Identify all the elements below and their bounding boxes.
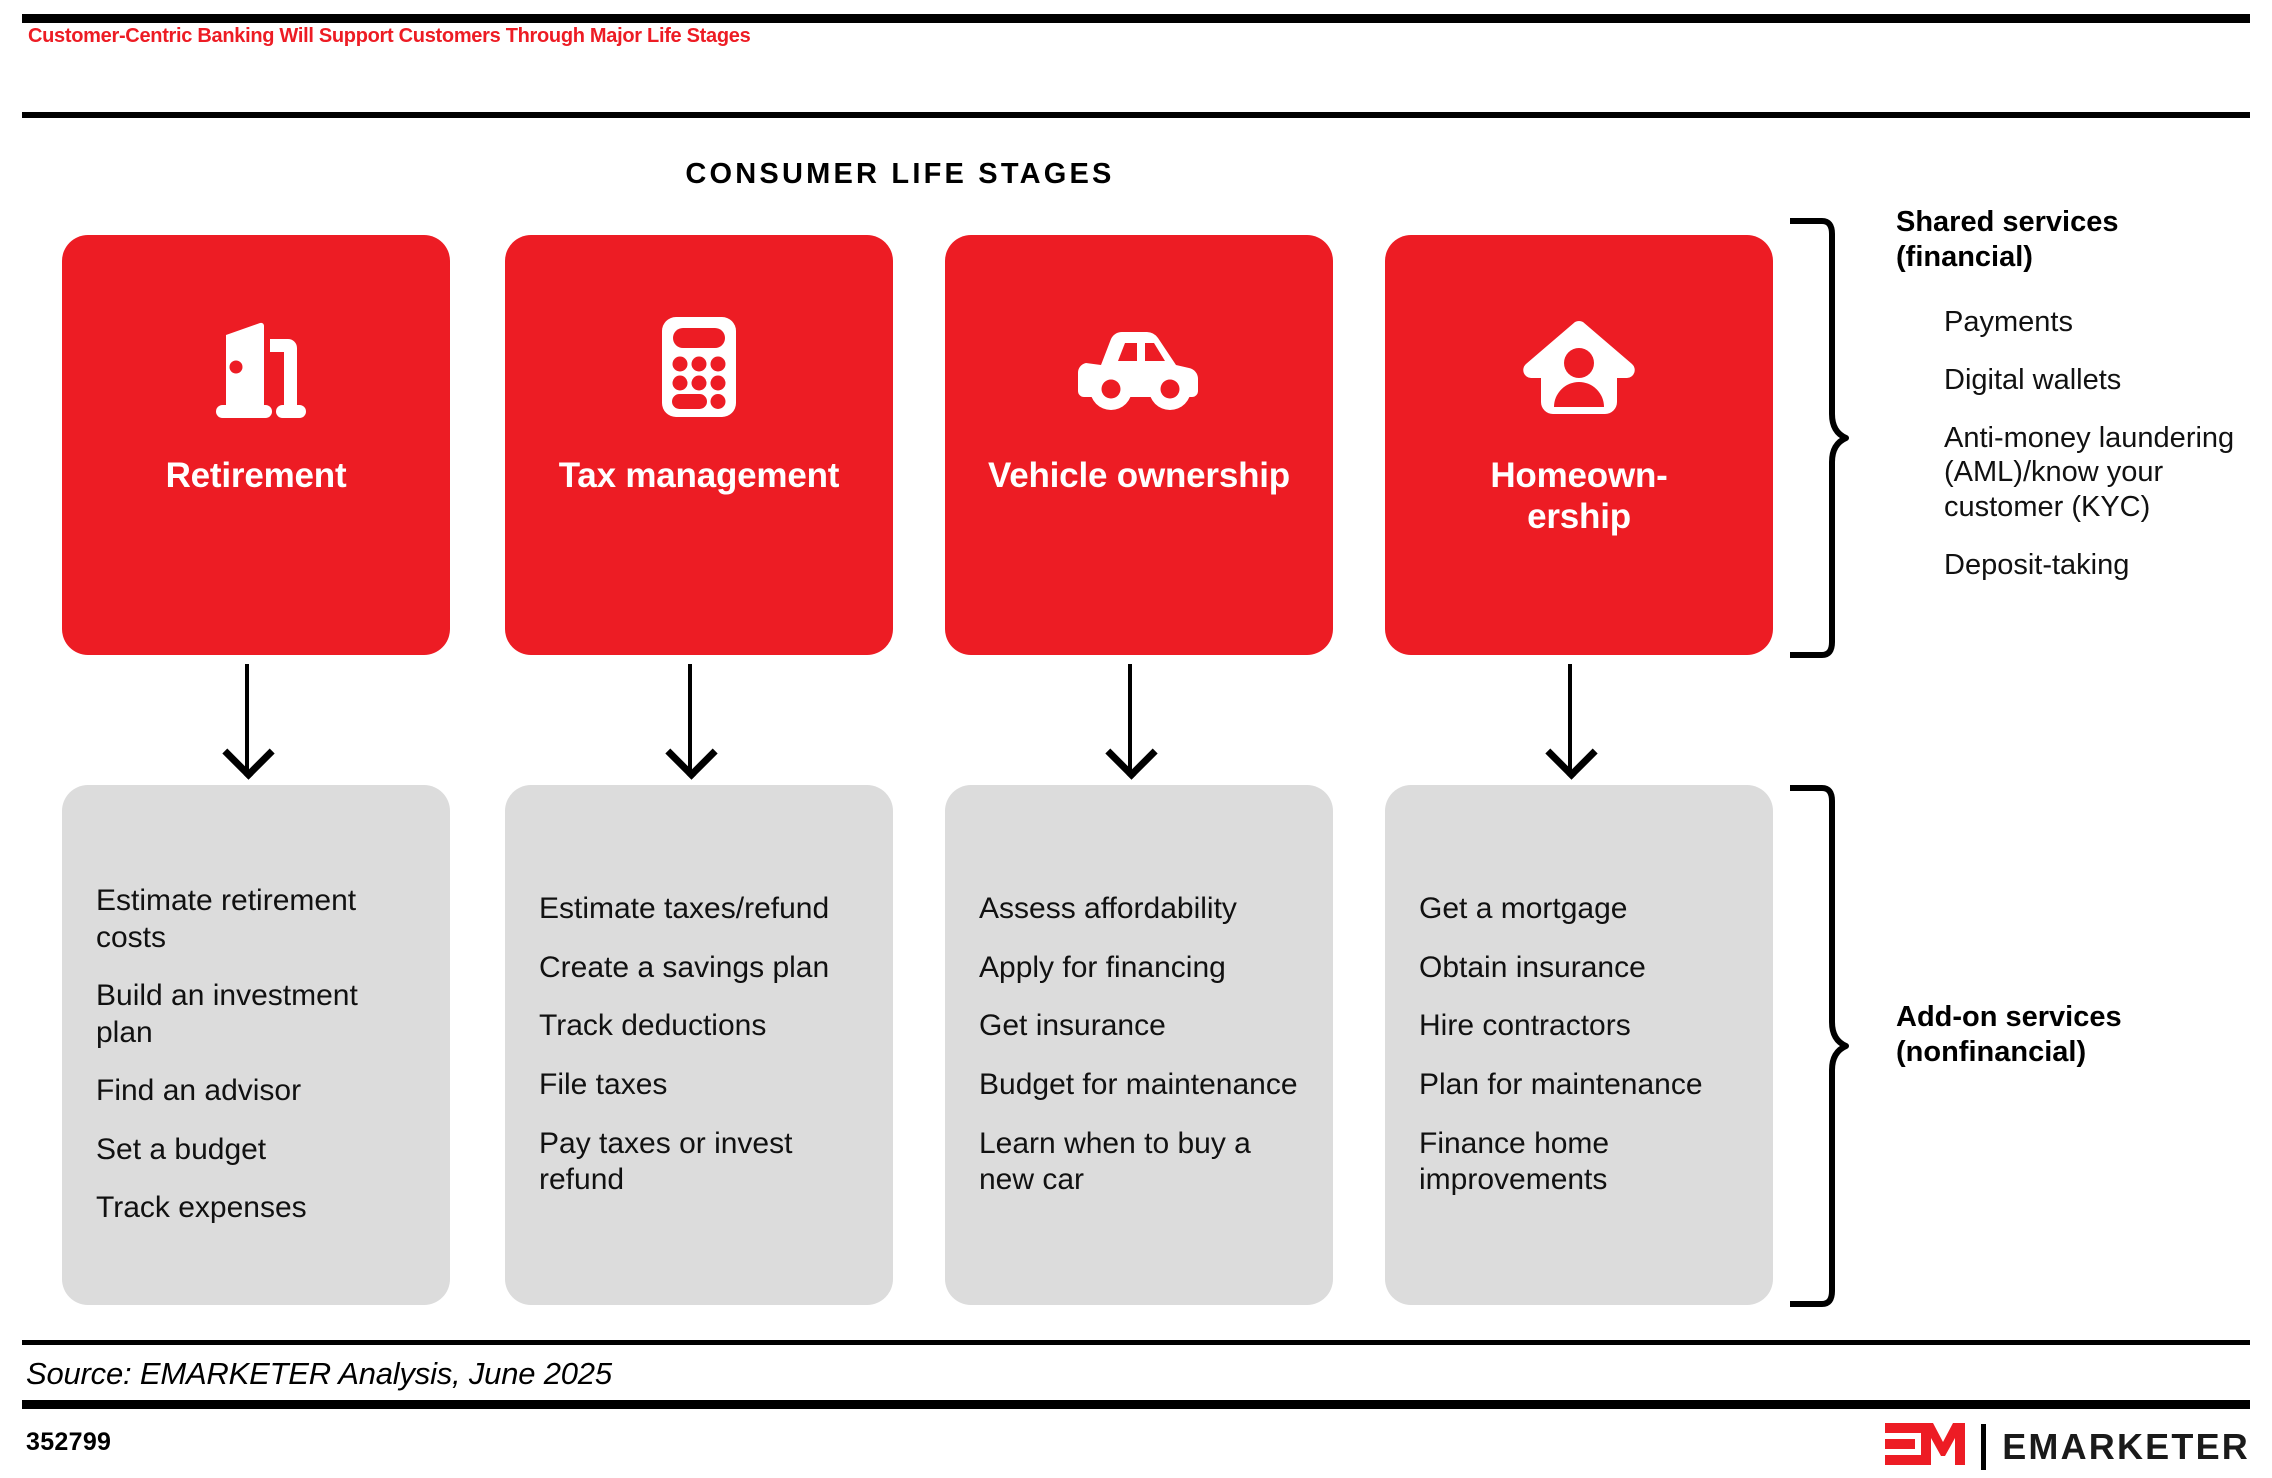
stage-card-tax-management[interactable]: Tax management: [505, 235, 893, 655]
stage-label: Vehicle ownership: [988, 455, 1290, 496]
shared-services-title: Shared services (financial): [1896, 205, 2226, 276]
emarketer-logo: EMARKETER: [1885, 1420, 2250, 1473]
em-logo-mark: [1885, 1420, 1965, 1473]
list-item: Finance home improvements: [1419, 1126, 1739, 1199]
calculator-icon: [656, 313, 742, 421]
source-note: Source: EMARKETER Analysis, June 2025: [26, 1356, 612, 1392]
list-item: Set a budget: [96, 1132, 416, 1169]
page-title: Customer-Centric Banking Will Support Cu…: [28, 26, 2248, 46]
service-list-tax-management: Estimate taxes/refund Create a savings p…: [505, 785, 893, 1305]
flow-arrow-down: [688, 664, 692, 770]
section-subtitle: CONSUMER LIFE STAGES: [0, 158, 1800, 191]
list-item: Find an advisor: [96, 1073, 416, 1110]
list-item: Track expenses: [96, 1190, 416, 1227]
flow-arrow-down: [245, 664, 249, 770]
stage-card-retirement[interactable]: Retirement: [62, 235, 450, 655]
car-icon: [1070, 313, 1208, 421]
chart-id: 352799: [26, 1428, 111, 1457]
retirement-door-icon: [204, 313, 308, 421]
list-item: Assess affordability: [979, 891, 1299, 928]
list-item: Budget for maintenance: [979, 1067, 1299, 1104]
list-item: Obtain insurance: [1419, 950, 1739, 987]
top-rule: [22, 14, 2250, 23]
list-item: Estimate taxes/refund: [539, 891, 859, 928]
flow-arrow-down: [1128, 664, 1132, 770]
list-item: Get insurance: [979, 1008, 1299, 1045]
source-bottom-rule: [22, 1400, 2250, 1409]
addon-services-brace: [1790, 785, 1850, 1307]
list-item: Hire contractors: [1419, 1008, 1739, 1045]
logo-wordmark: EMARKETER: [2002, 1426, 2250, 1468]
stage-label: Retirement: [166, 455, 347, 496]
stage-card-homeownership[interactable]: Homeown-ership: [1385, 235, 1773, 655]
house-person-icon: [1521, 313, 1637, 421]
flow-arrow-down: [1568, 664, 1572, 770]
logo-divider: [1981, 1424, 1986, 1470]
list-item: File taxes: [539, 1067, 859, 1104]
service-list-retirement: Estimate retirement costs Build an inves…: [62, 785, 450, 1305]
stage-label: Homeown-ership: [1490, 455, 1667, 538]
list-item: Learn when to buy a new car: [979, 1126, 1299, 1199]
stage-label: Tax management: [559, 455, 840, 496]
shared-services-list: Payments Digital wallets Anti-money laun…: [1944, 305, 2272, 583]
list-item: Build an investment plan: [96, 978, 416, 1051]
source-top-rule: [22, 1340, 2250, 1345]
service-list-homeownership: Get a mortgage Obtain insurance Hire con…: [1385, 785, 1773, 1305]
title-underline-rule: [22, 112, 2250, 118]
list-item: Deposit-taking: [1944, 548, 2272, 583]
shared-services-brace: [1790, 218, 1850, 658]
list-item: Track deductions: [539, 1008, 859, 1045]
list-item: Payments: [1944, 305, 2272, 340]
list-item: Pay taxes or invest refund: [539, 1126, 859, 1199]
addon-services-title: Add-on services (nonfinancial): [1896, 1000, 2226, 1071]
list-item: Digital wallets: [1944, 363, 2272, 398]
list-item: Estimate retirement costs: [96, 883, 416, 956]
list-item: Create a savings plan: [539, 950, 859, 987]
list-item: Get a mortgage: [1419, 891, 1739, 928]
list-item: Apply for financing: [979, 950, 1299, 987]
list-item: Plan for maintenance: [1419, 1067, 1739, 1104]
stage-card-vehicle-ownership[interactable]: Vehicle ownership: [945, 235, 1333, 655]
service-list-vehicle-ownership: Assess affordability Apply for financing…: [945, 785, 1333, 1305]
list-item: Anti-money laundering (AML)/know your cu…: [1944, 421, 2272, 525]
